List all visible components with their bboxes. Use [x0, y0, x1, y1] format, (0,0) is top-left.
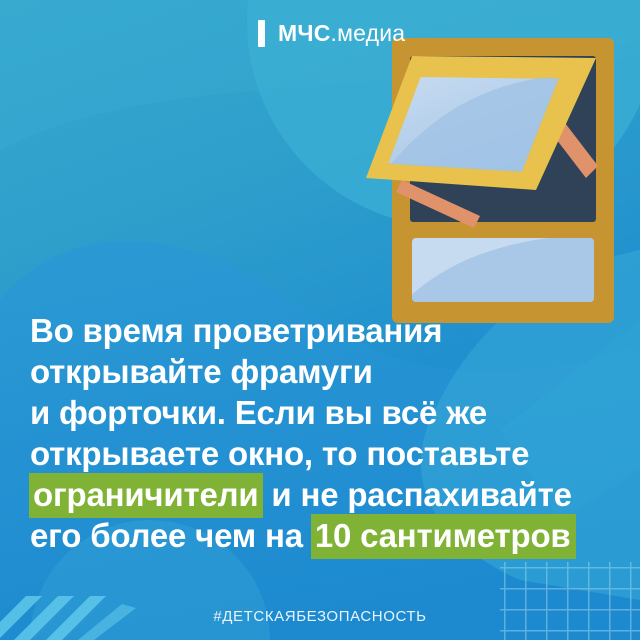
brand-name-bold: МЧС	[278, 20, 331, 46]
open-window-illustration	[340, 38, 640, 323]
headline-text: и форточки. Если вы всё же	[30, 394, 487, 431]
headline-text: открываете окно, то поставьте	[30, 435, 529, 472]
poster-canvas: МЧС.медиа	[0, 0, 640, 640]
brand-logo: МЧС.медиа	[258, 18, 405, 48]
headline-line: открывайте фрамуги	[30, 351, 640, 392]
headline-line: открываете окно, то поставьте	[30, 433, 640, 474]
headline-text: его более чем на	[30, 517, 312, 554]
brand-logo-text: МЧС.медиа	[278, 22, 405, 45]
brand-name-light: .медиа	[331, 20, 406, 46]
headline-block: Во время проветривания открывайте фрамуг…	[30, 310, 640, 556]
headline-line: ограничители и не распахивайте	[30, 474, 640, 515]
decor-grid-pattern	[500, 562, 640, 640]
hashtag-label: #ДЕТСКАЯБЕЗОПАСНОСТЬ	[0, 608, 640, 625]
headline-text: Во время проветривания	[30, 312, 442, 349]
headline-highlight: ограничители	[29, 473, 263, 518]
headline-line: Во время проветривания	[30, 310, 640, 351]
headline-line: его более чем на 10 сантиметров	[30, 515, 640, 556]
vertical-bar-icon	[258, 20, 265, 47]
headline-text: и не распахивайте	[262, 476, 571, 513]
headline-text: открывайте фрамуги	[30, 353, 373, 390]
headline-highlight: 10 сантиметров	[311, 514, 576, 559]
headline-line: и форточки. Если вы всё же	[30, 392, 640, 433]
